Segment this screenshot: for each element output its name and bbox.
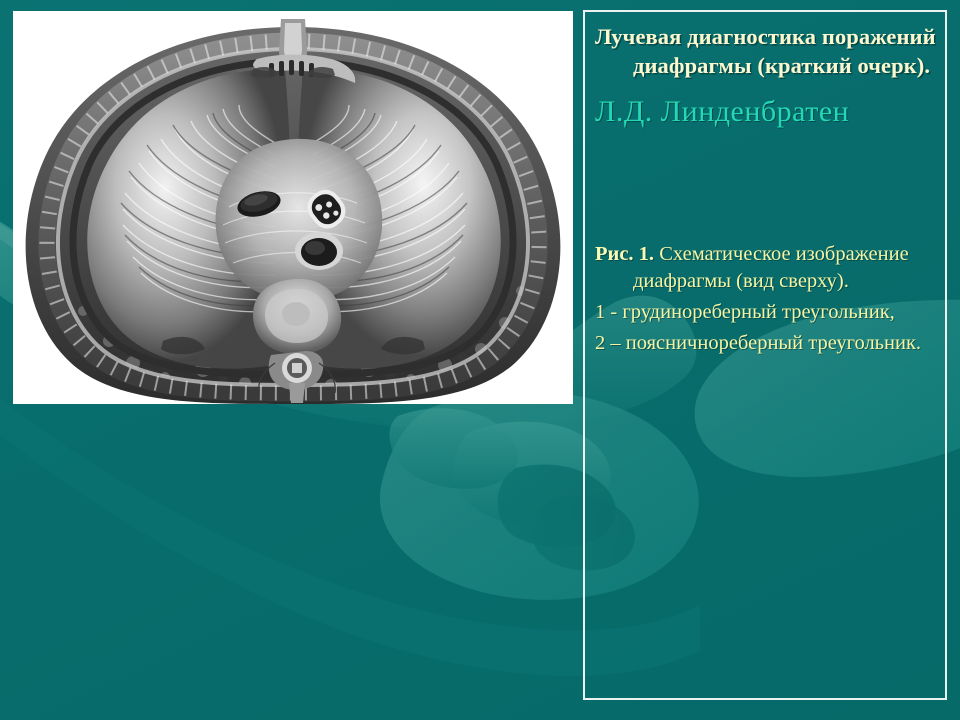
legend-item-2: 2 – поясничнореберный треугольник. <box>595 330 937 357</box>
author-name: Л.Д. Линденбратен <box>595 95 937 130</box>
diaphragm-figure <box>13 11 573 404</box>
text-panel: Лучевая диагностика поражений диафрагмы … <box>585 12 945 698</box>
figure-caption-text: Схематическое изображение диафрагмы (вид… <box>633 243 909 292</box>
figure-caption: Рис. 1. Схематическое изображение диафра… <box>595 241 937 295</box>
caption-spacer <box>595 129 937 241</box>
slide-title-line1: Лучевая диагностика <box>595 24 816 49</box>
slide-title-line3: (краткий очерк). <box>757 53 930 78</box>
figure-label: Рис. 1. <box>595 243 654 265</box>
slide: Лучевая диагностика поражений диафрагмы … <box>0 0 960 720</box>
text-frame: Лучевая диагностика поражений диафрагмы … <box>583 10 947 700</box>
slide-title: Лучевая диагностика поражений диафрагмы … <box>595 22 937 81</box>
legend-item-1: 1 - грудинореберный треугольник, <box>595 299 937 326</box>
